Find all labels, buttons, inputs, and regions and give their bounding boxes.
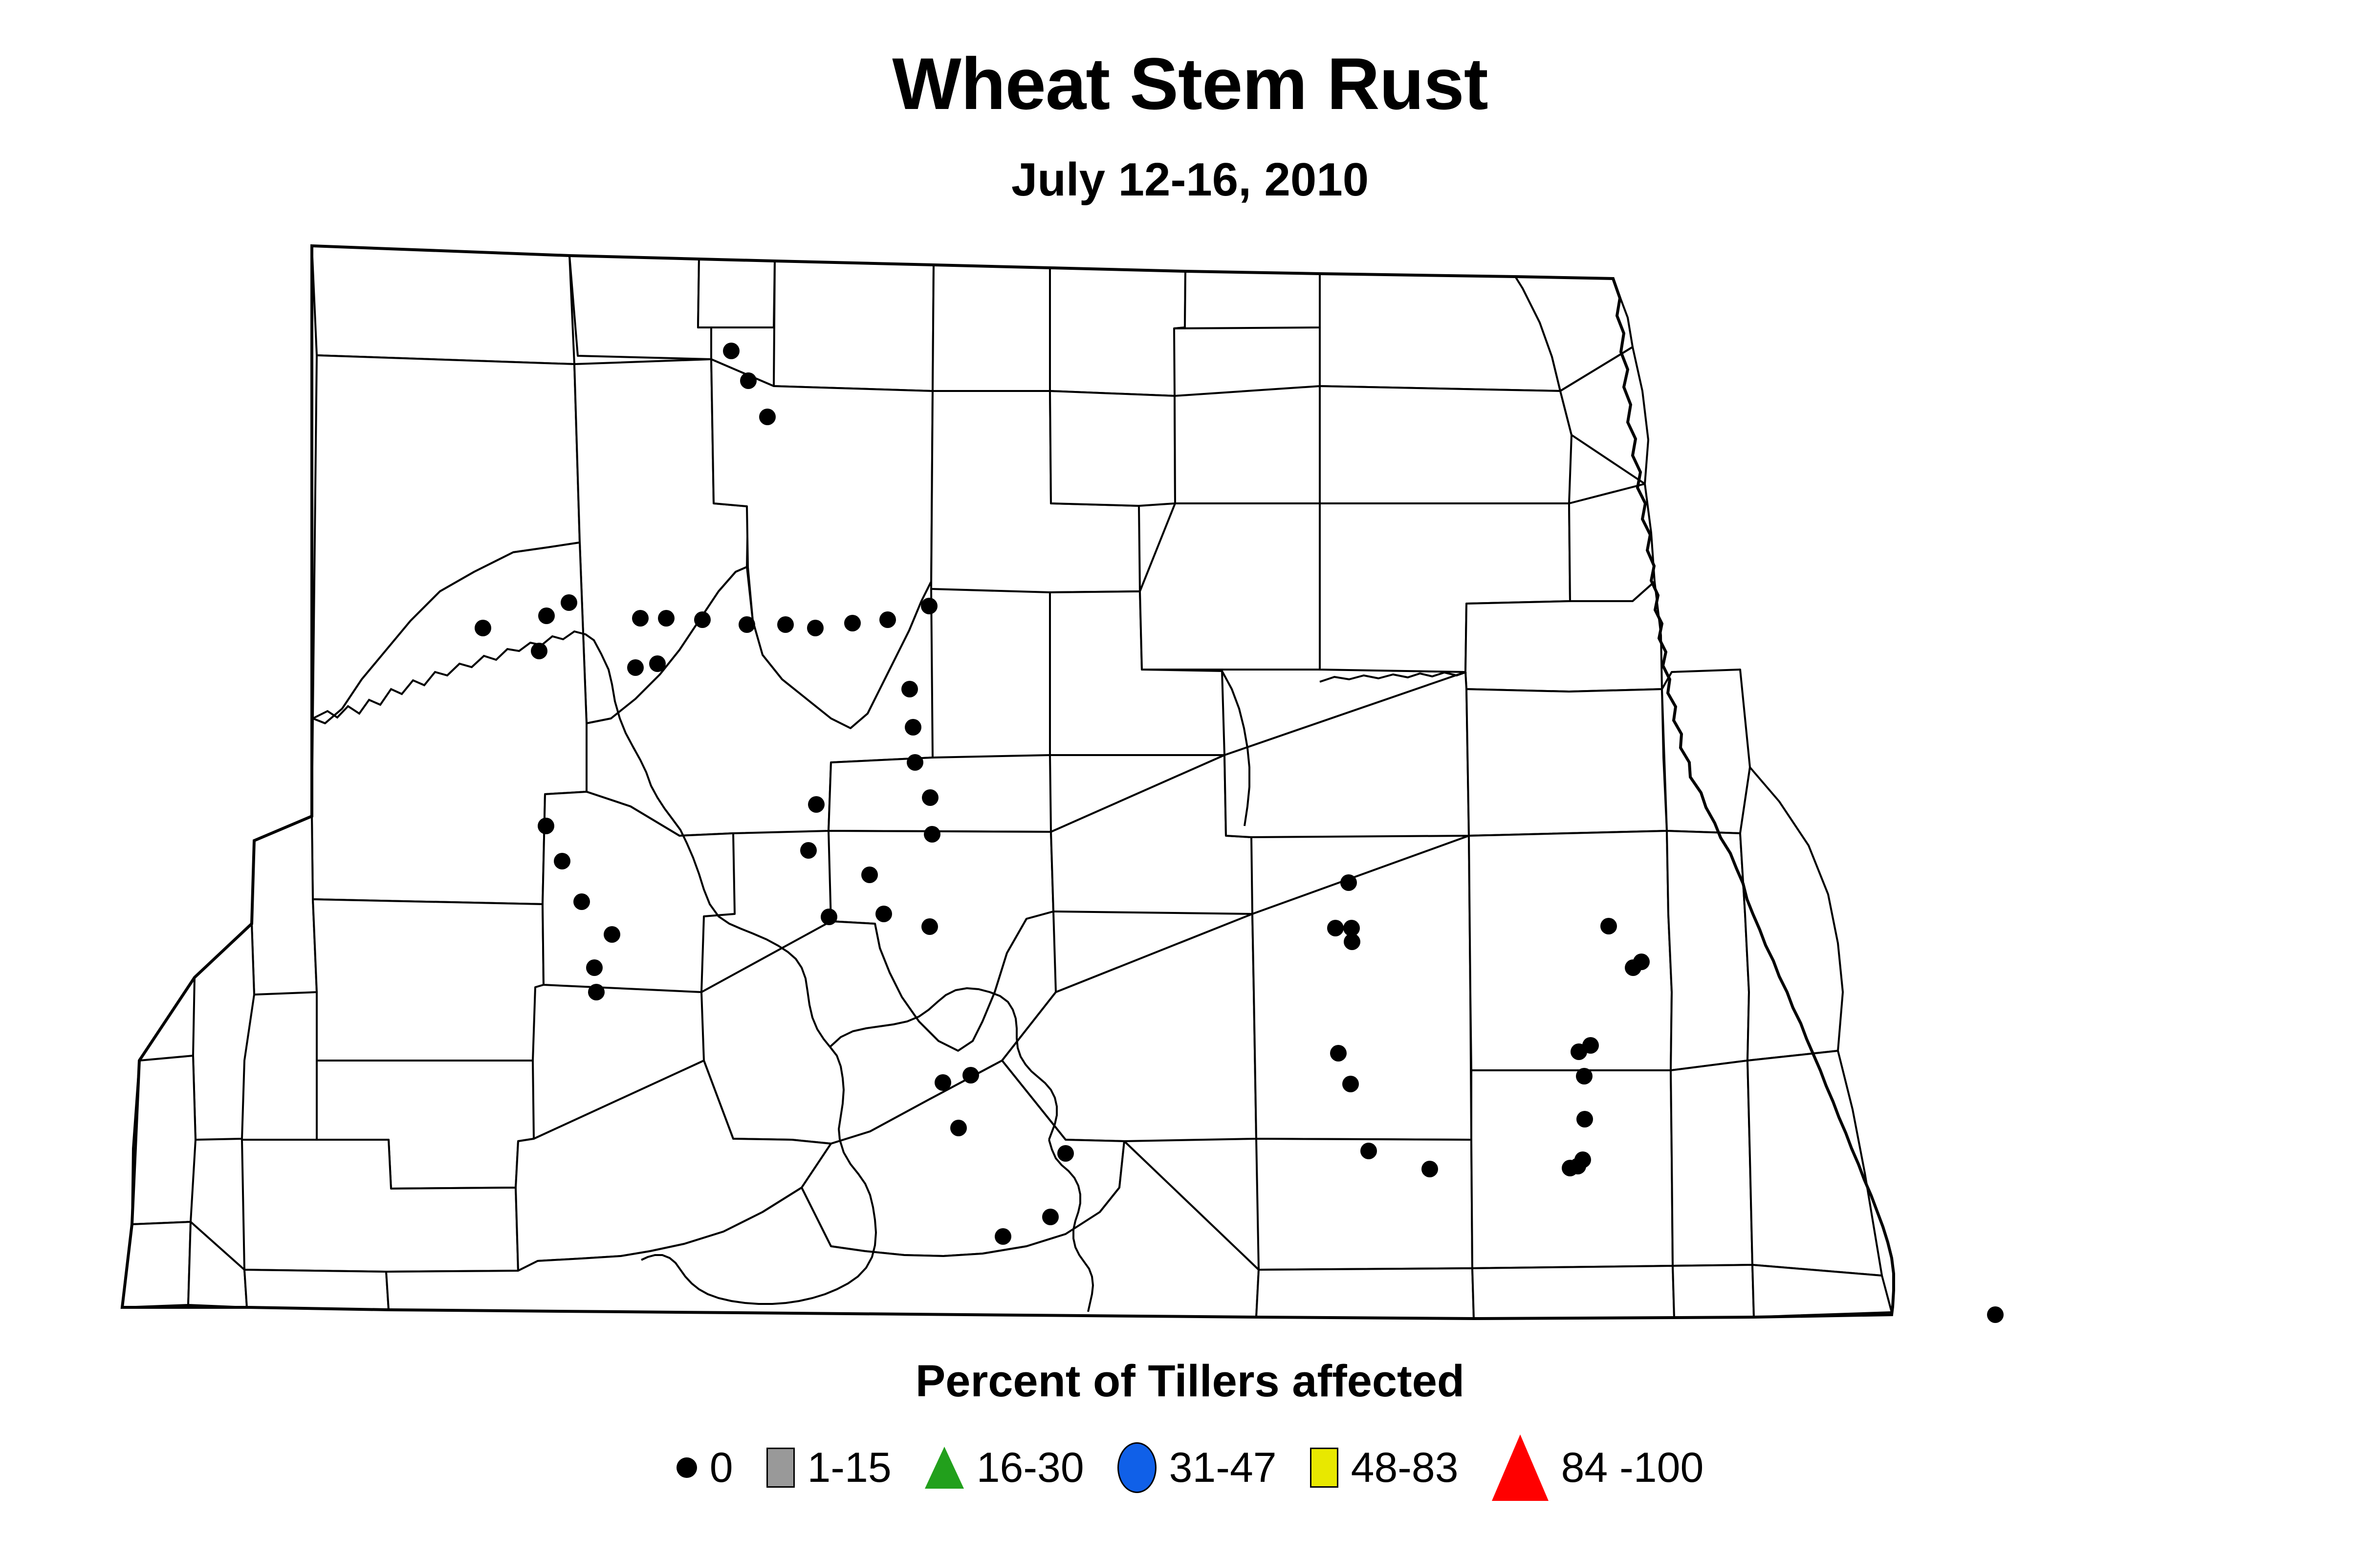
map-data-point — [588, 984, 605, 1000]
map-data-point — [1421, 1161, 1438, 1177]
map-data-point — [649, 655, 666, 672]
legend-item-3[interactable]: 31-47 — [1117, 1442, 1277, 1493]
map-data-point — [632, 610, 649, 627]
page-title: Wheat Stem Rust — [0, 47, 2380, 120]
county-barnes — [1466, 689, 1667, 836]
gray-square-icon — [766, 1448, 795, 1488]
map-data-point — [800, 842, 817, 859]
map-data-point — [475, 620, 491, 636]
legend-item-4[interactable]: 48-83 — [1310, 1447, 1459, 1489]
county-stutsman — [1224, 672, 1469, 837]
map-data-point — [1330, 1045, 1347, 1062]
map-data-point — [739, 616, 755, 633]
county-towner — [1050, 268, 1185, 396]
map-data-point — [627, 659, 644, 676]
county-kidder — [1051, 755, 1252, 914]
legend-item-1[interactable]: 1-15 — [766, 1447, 892, 1489]
map-data-point — [907, 754, 923, 771]
county-nelson-walsh — [1320, 386, 1572, 503]
legend-item-label: 1-15 — [808, 1447, 892, 1489]
map-data-point — [1633, 954, 1650, 970]
county-dunn — [313, 899, 544, 1061]
map-data-point — [554, 853, 570, 869]
map-data-point — [1987, 1306, 2004, 1323]
county-eddy — [1140, 503, 1320, 670]
map-data-point — [658, 610, 675, 627]
map-data-point — [921, 598, 938, 614]
map-data-point — [1576, 1068, 1593, 1084]
map-data-point — [1582, 1037, 1599, 1054]
county-dickey-south — [1472, 1266, 1674, 1319]
county-bottineau — [774, 261, 934, 391]
county-sheridan — [829, 755, 1051, 832]
map-data-point — [759, 409, 776, 425]
county-burke — [569, 256, 711, 359]
map-data-point — [1042, 1209, 1059, 1225]
legend-item-0[interactable]: 0 — [677, 1447, 733, 1489]
map-data-point — [723, 343, 740, 359]
green-triangle-icon — [925, 1447, 964, 1489]
map-data-point — [962, 1067, 979, 1084]
map-data-point — [1344, 933, 1360, 950]
red-triangle-icon — [1492, 1434, 1549, 1501]
map-data-point — [924, 826, 940, 843]
map-data-point — [1574, 1151, 1591, 1168]
map-data-point — [604, 926, 620, 943]
county-benson — [1050, 391, 1175, 506]
legend-item-label: 16-30 — [977, 1447, 1084, 1489]
county-ramsey — [1175, 386, 1320, 503]
map-data-point — [879, 611, 896, 628]
map-data-point — [808, 796, 825, 813]
county-sargent — [1671, 1061, 1752, 1266]
map-data-point — [1600, 918, 1617, 934]
blue-circle-icon — [1117, 1442, 1157, 1493]
county-bowman — [122, 1222, 191, 1307]
map-data-point — [807, 620, 824, 636]
map-data-point — [538, 607, 555, 624]
map-data-point — [531, 643, 547, 659]
map-data-point — [995, 1228, 1011, 1245]
map-data-point — [901, 681, 918, 697]
county-sargent-south — [1673, 1265, 1754, 1318]
legend-item-label: 31-47 — [1169, 1447, 1277, 1489]
county-sioux-west — [244, 1270, 389, 1310]
legend-item-2[interactable]: 16-30 — [925, 1447, 1084, 1489]
county-lamoure — [1469, 831, 1672, 1070]
map-data-point — [1360, 1143, 1377, 1159]
legend-item-label: 84 -100 — [1561, 1447, 1704, 1489]
map-data-point — [935, 1074, 951, 1091]
map-data-point — [905, 719, 921, 736]
county-richland-lower — [1747, 1051, 1882, 1276]
county-mcintosh — [1256, 1139, 1472, 1270]
county-cavalier — [1174, 271, 1320, 328]
county-billings — [252, 816, 317, 995]
county-rolette — [933, 265, 1050, 391]
county-logan — [1252, 836, 1471, 1140]
page-subtitle: July 12-16, 2010 — [0, 156, 2380, 203]
page-root: Wheat Stem Rust July 12-16, 2010 — [0, 0, 2380, 1561]
map-svg — [0, 230, 2380, 1354]
county-golden-valley — [193, 924, 254, 1140]
legend-item-label: 48-83 — [1351, 1447, 1459, 1489]
map-data-point — [922, 789, 939, 806]
county-mcintosh-south — [1256, 1268, 1474, 1319]
map-data-point — [950, 1120, 967, 1136]
legend-title: Percent of Tillers affected — [0, 1359, 2380, 1404]
legend-items: 01-1516-3031-4748-8384 -100 — [0, 1431, 2380, 1504]
county-slope — [132, 1056, 196, 1224]
county-traill — [1569, 484, 1655, 601]
legend: Percent of Tillers affected 01-1516-3031… — [0, 1359, 2380, 1525]
county-adams — [188, 1222, 247, 1307]
map-data-point — [573, 893, 590, 910]
map-data-point — [1327, 920, 1344, 936]
map-data-point — [1057, 1145, 1074, 1162]
map-data-point — [1576, 1111, 1593, 1127]
county-renville — [698, 259, 775, 327]
county-layer — [122, 246, 1892, 1319]
county-richland-upper — [1740, 767, 1843, 1061]
north-dakota-county-map — [0, 230, 2380, 1354]
map-data-point — [921, 918, 938, 935]
legend-item-5[interactable]: 84 -100 — [1492, 1434, 1704, 1501]
map-data-point — [740, 372, 757, 389]
map-data-point — [875, 906, 892, 922]
map-data-point — [586, 959, 603, 976]
map-data-point — [538, 818, 554, 834]
map-data-point — [861, 867, 878, 883]
black-dot-icon — [677, 1457, 697, 1478]
map-data-point — [821, 909, 837, 925]
map-data-point — [844, 615, 861, 631]
map-data-point — [1342, 1076, 1359, 1092]
yellow-square-icon — [1310, 1448, 1338, 1488]
map-data-point — [777, 616, 794, 633]
map-data-point — [694, 611, 711, 628]
map-data-point — [1340, 874, 1357, 891]
county-divide — [312, 246, 574, 364]
legend-item-label: 0 — [710, 1447, 733, 1489]
map-data-point — [561, 594, 577, 611]
